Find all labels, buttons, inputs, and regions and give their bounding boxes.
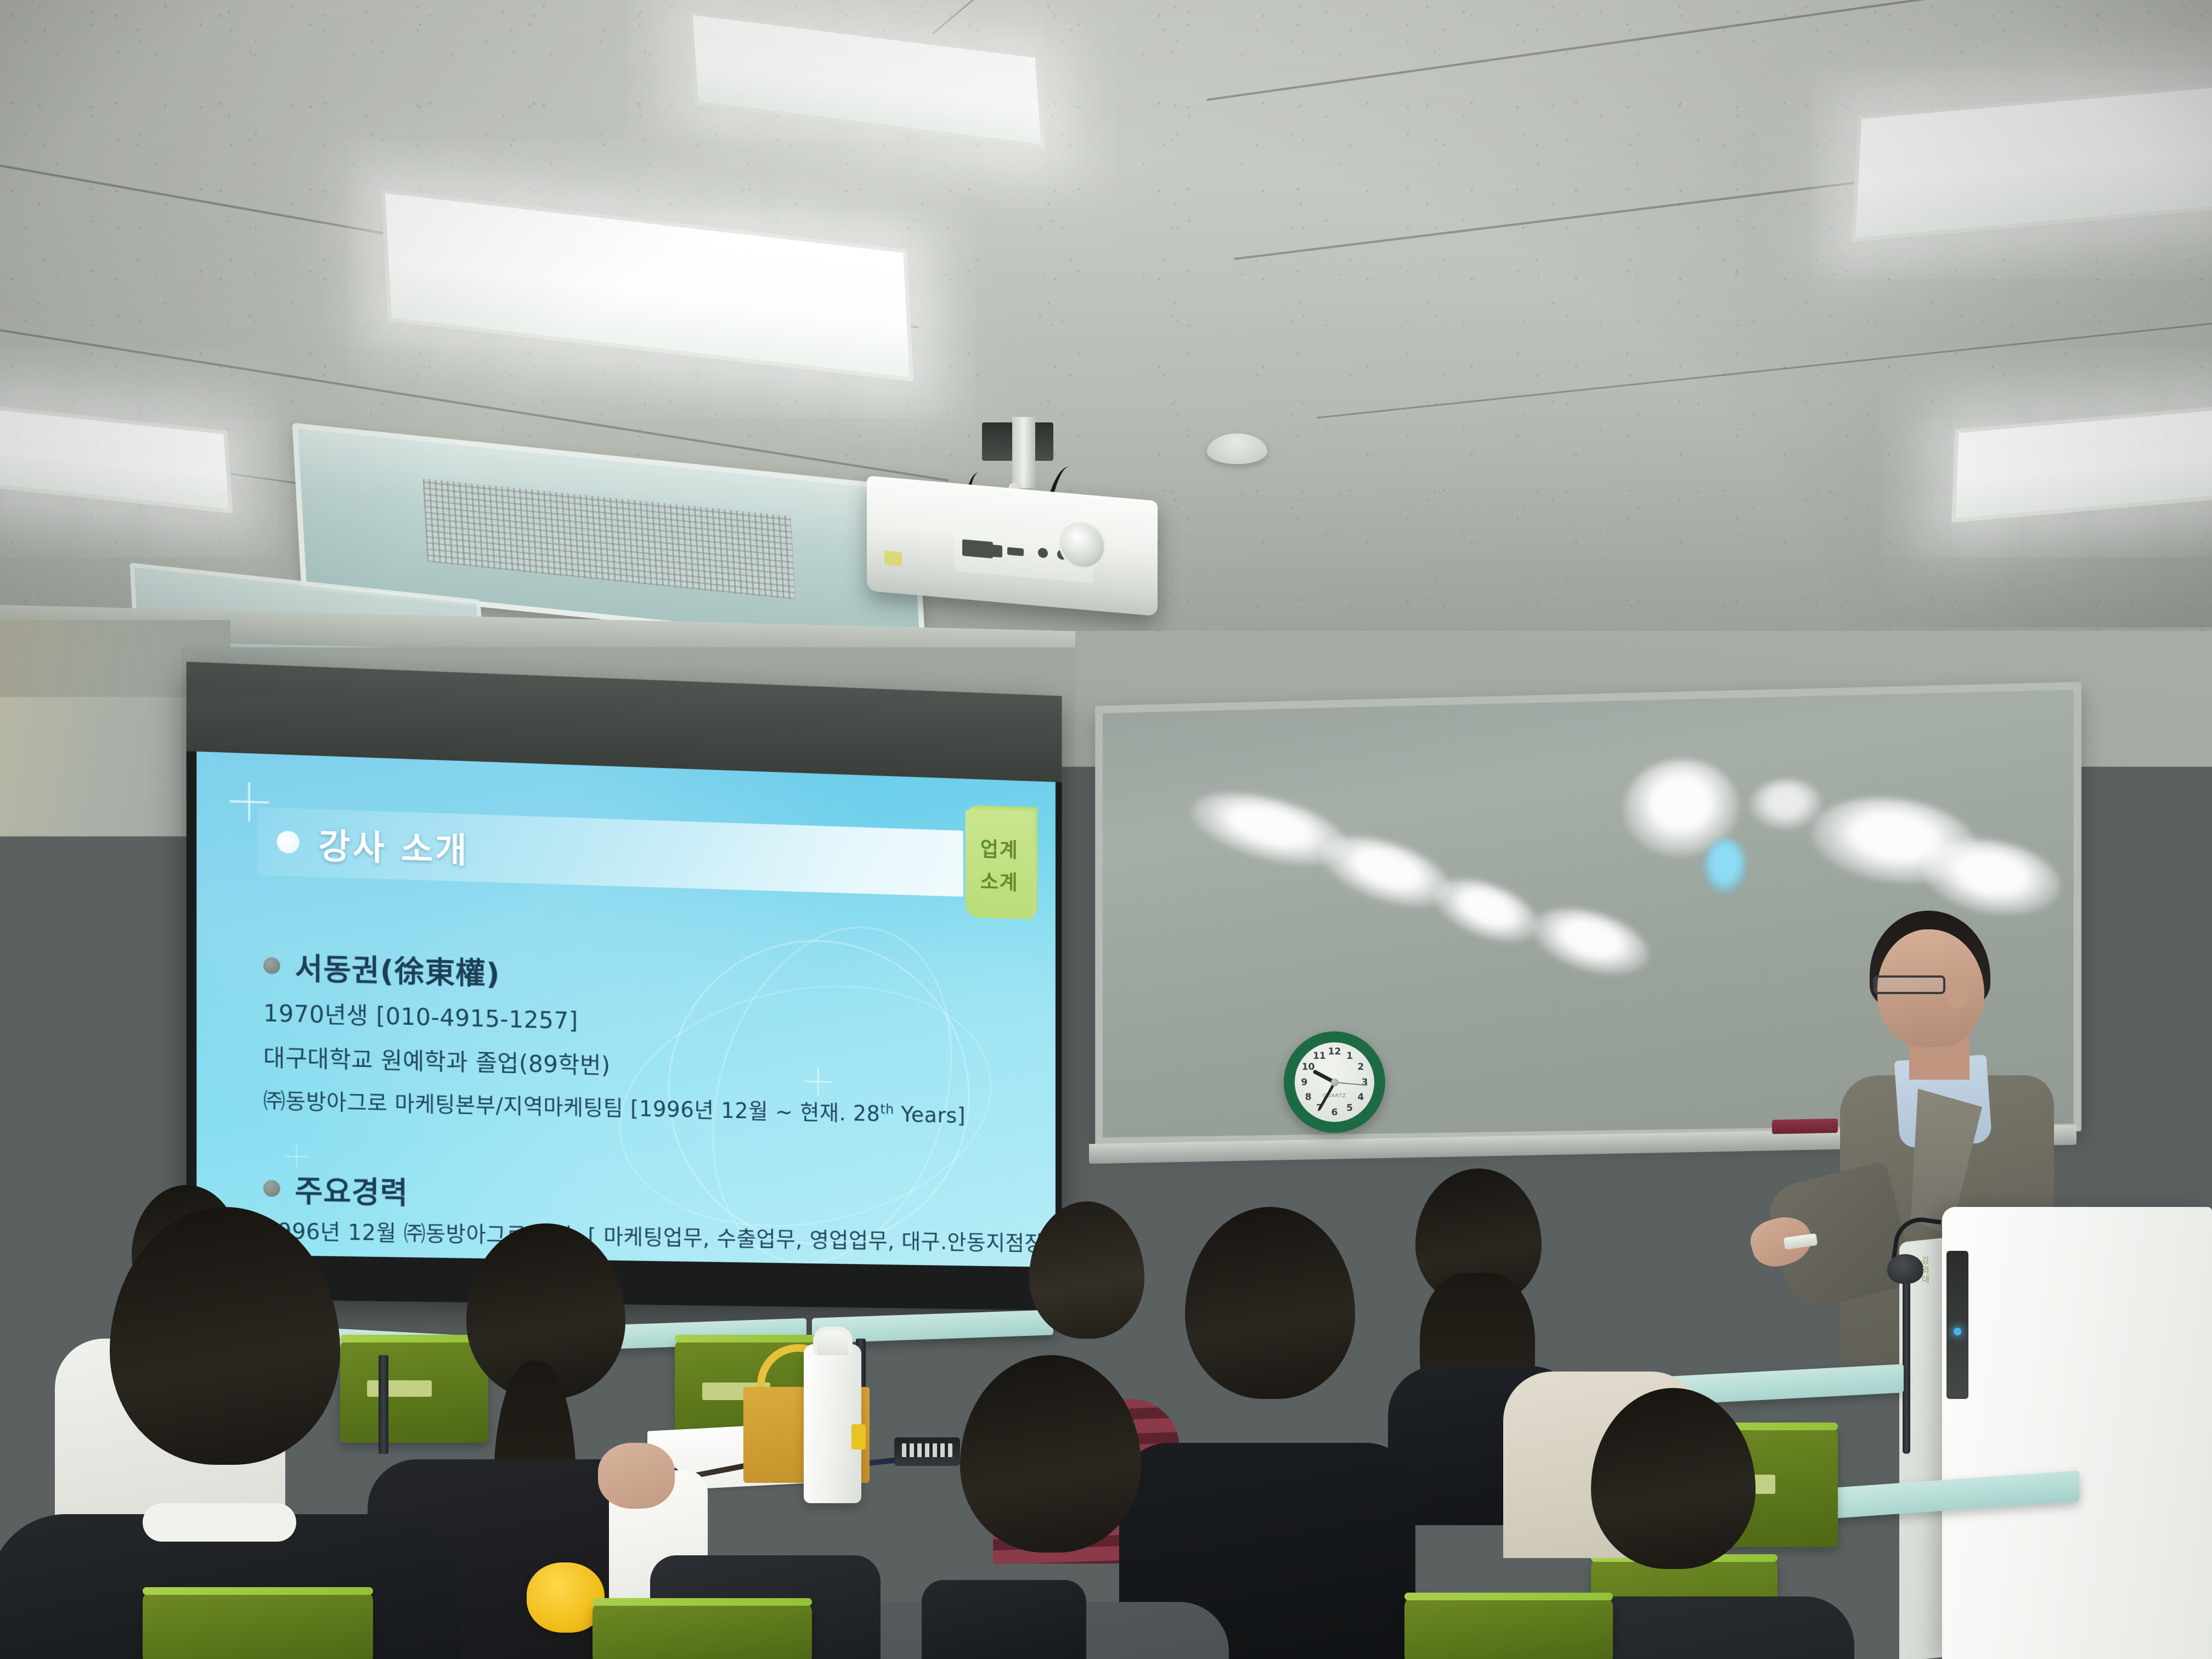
lectern <box>1942 1207 2212 1659</box>
slide-section-heading: 주요경력 <box>263 1166 408 1212</box>
slide-corner-tab: 업계 소계 <box>966 809 1034 919</box>
projector-indicator <box>884 551 902 567</box>
clock-face: 12 1 2 3 4 5 6 7 8 9 10 11 QUARTZ <box>1295 1042 1374 1122</box>
chair[interactable] <box>143 1591 373 1659</box>
bullet-icon <box>263 957 280 974</box>
chair[interactable] <box>592 1602 812 1659</box>
head <box>1185 1207 1355 1399</box>
wall-clock: 12 1 2 3 4 5 6 7 8 9 10 11 QUARTZ <box>1284 1031 1385 1133</box>
light-glare <box>1750 778 1822 830</box>
bottle-cap[interactable] <box>813 1327 853 1355</box>
slide-tab-line-2: 소계 <box>980 865 1019 895</box>
lectern-label: 강의대 <box>1920 1256 1929 1284</box>
sparkle-icon <box>285 1145 308 1168</box>
bottle-clip <box>851 1424 866 1449</box>
clock-numeral: 8 <box>1305 1092 1312 1103</box>
ac-grille <box>422 478 795 600</box>
projector-port <box>962 539 993 558</box>
head <box>960 1355 1141 1553</box>
chair[interactable] <box>1404 1596 1613 1659</box>
student-ponytail <box>428 1223 658 1607</box>
water-bottle[interactable] <box>804 1344 861 1503</box>
clock-numeral: 12 <box>1328 1046 1341 1057</box>
clock-numeral: 11 <box>1313 1051 1326 1062</box>
projector-mount-rod <box>1012 417 1035 488</box>
slide-section-heading: 서동권(徐東權) <box>263 943 500 993</box>
clock-numeral: 1 <box>1346 1051 1353 1062</box>
clock-numeral: 6 <box>1331 1107 1338 1118</box>
backpack[interactable] <box>922 1580 1086 1659</box>
sparkle-icon <box>804 1067 832 1096</box>
head <box>110 1207 340 1465</box>
clock-numeral: 3 <box>1362 1077 1368 1088</box>
slide-line-superscript: th <box>880 1102 894 1117</box>
classroom-scene: 12 1 2 3 4 5 6 7 8 9 10 11 QUARTZ <box>0 0 2212 1659</box>
slide-section-1-line-2: 대구대학교 원예학과 졸업(89학번) <box>263 1039 611 1081</box>
slide-header-bar: 강사 소개 <box>258 807 963 896</box>
slide-line-tail: Years] <box>894 1102 966 1128</box>
clock-numeral: 4 <box>1357 1092 1364 1103</box>
hand <box>598 1443 675 1509</box>
clock-numeral: 9 <box>1301 1077 1307 1088</box>
projector-port <box>1038 548 1048 558</box>
bullet-icon <box>277 831 300 854</box>
head <box>1029 1201 1144 1339</box>
slide-title: 강사 소개 <box>318 818 469 873</box>
light-glare <box>1524 896 1656 987</box>
presentation-slide: 강사 소개 업계 소계 서동권(徐東權) 1970년생 [010-4915-12… <box>196 752 1056 1267</box>
lectern-control-panel[interactable] <box>1946 1251 1968 1399</box>
head <box>1591 1388 1756 1569</box>
blue-light-reflection <box>1703 838 1747 894</box>
presenter-ear <box>1946 981 1967 1008</box>
slide-section-2-heading: 주요경력 <box>295 1166 408 1212</box>
clock-center-pin <box>1331 1079 1339 1086</box>
student-center-dark <box>1147 1207 1377 1558</box>
clock-numeral: 5 <box>1346 1103 1353 1114</box>
slide-section-1-heading: 서동권(徐東權) <box>295 944 500 994</box>
microphone-icon[interactable] <box>1887 1254 1923 1284</box>
glasses-icon <box>1873 975 1945 994</box>
collar <box>143 1503 296 1542</box>
slide-tab-line-1: 업계 <box>980 833 1019 863</box>
slide-section-1-line-1: 1970년생 [010-4915-1257] <box>263 995 578 1036</box>
clock-numeral: 2 <box>1357 1062 1364 1073</box>
projector-port <box>1007 547 1024 556</box>
power-led-icon <box>1954 1328 1961 1335</box>
microphone-stand <box>1903 1273 1910 1454</box>
projector-port <box>990 544 1002 557</box>
